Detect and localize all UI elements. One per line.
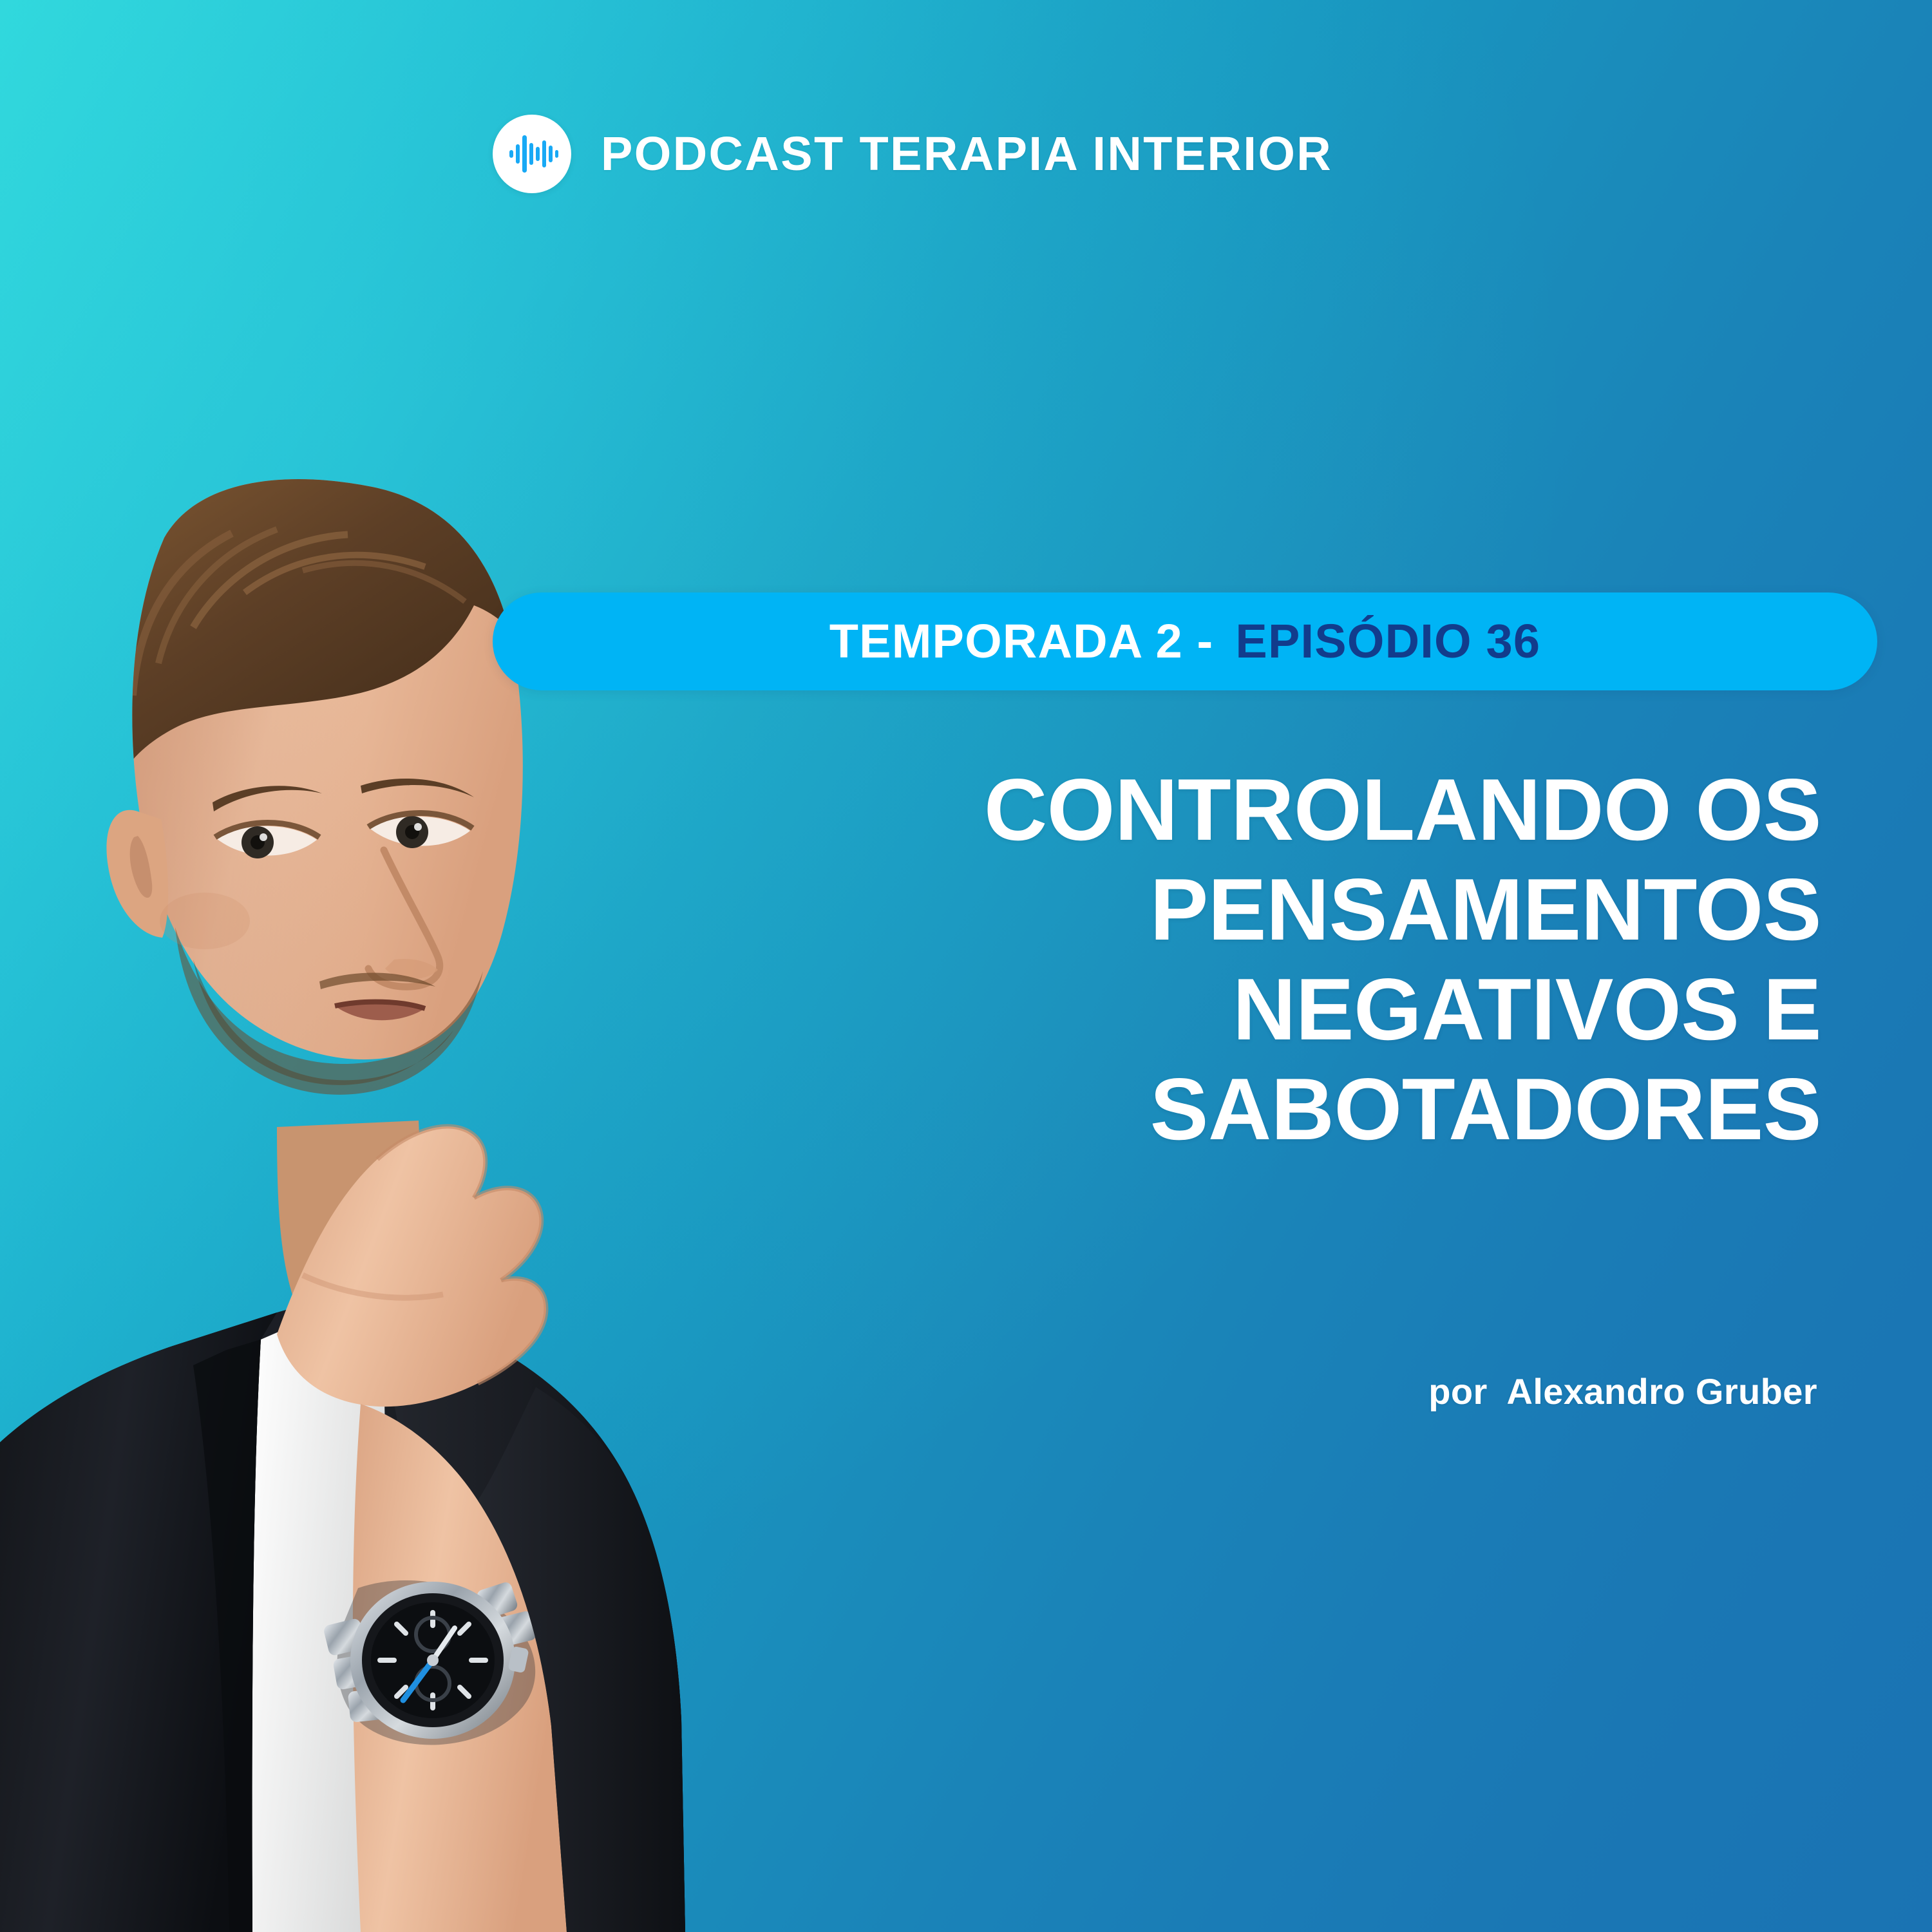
lapel-edge	[193, 1340, 261, 1932]
season-label: TEMPORADA 2 -	[829, 618, 1214, 665]
eyebrow-left	[213, 786, 322, 811]
forearm	[353, 1404, 567, 1932]
brand-title: PODCAST TERAPIA INTERIOR	[601, 130, 1332, 178]
podcast-cover-artwork: PODCAST TERAPIA INTERIOR TEMPORADA 2 - E…	[0, 0, 1932, 1932]
author-byline: por Alexandro Gruber	[1428, 1370, 1817, 1412]
head	[106, 450, 532, 1095]
hand	[277, 1126, 546, 1406]
suit-jacket	[0, 1296, 685, 1932]
season-episode-badge: TEMPORADA 2 - EPISÓDIO 36	[493, 592, 1877, 690]
title-line-3: NEGATIVOS E	[598, 960, 1821, 1059]
tshirt	[252, 1307, 399, 1932]
eye-left	[215, 823, 319, 859]
title-line-2: PENSAMENTOS	[598, 860, 1821, 960]
title-line-4: SABOTADORES	[598, 1059, 1821, 1159]
suit-lapel-right	[384, 1309, 685, 1932]
episode-title: CONTROLANDO OS PENSAMENTOS NEGATIVOS E S…	[598, 760, 1821, 1159]
eye-right	[368, 813, 473, 848]
mouth	[335, 1000, 425, 1021]
neck	[277, 1121, 421, 1347]
audio-waveform-icon	[493, 115, 571, 193]
suit-lapel-left	[0, 1312, 277, 1932]
hair	[113, 450, 532, 786]
nose	[368, 850, 440, 987]
wristwatch	[323, 1580, 538, 1745]
brand-header: PODCAST TERAPIA INTERIOR	[493, 115, 1332, 193]
ear	[106, 810, 168, 938]
episode-label: EPISÓDIO 36	[1235, 618, 1540, 665]
moustache	[319, 973, 435, 989]
beard	[175, 927, 483, 1095]
title-line-1: CONTROLANDO OS	[598, 760, 1821, 860]
suit-sleeve	[478, 1387, 685, 1932]
eyebrow-right	[361, 779, 474, 797]
